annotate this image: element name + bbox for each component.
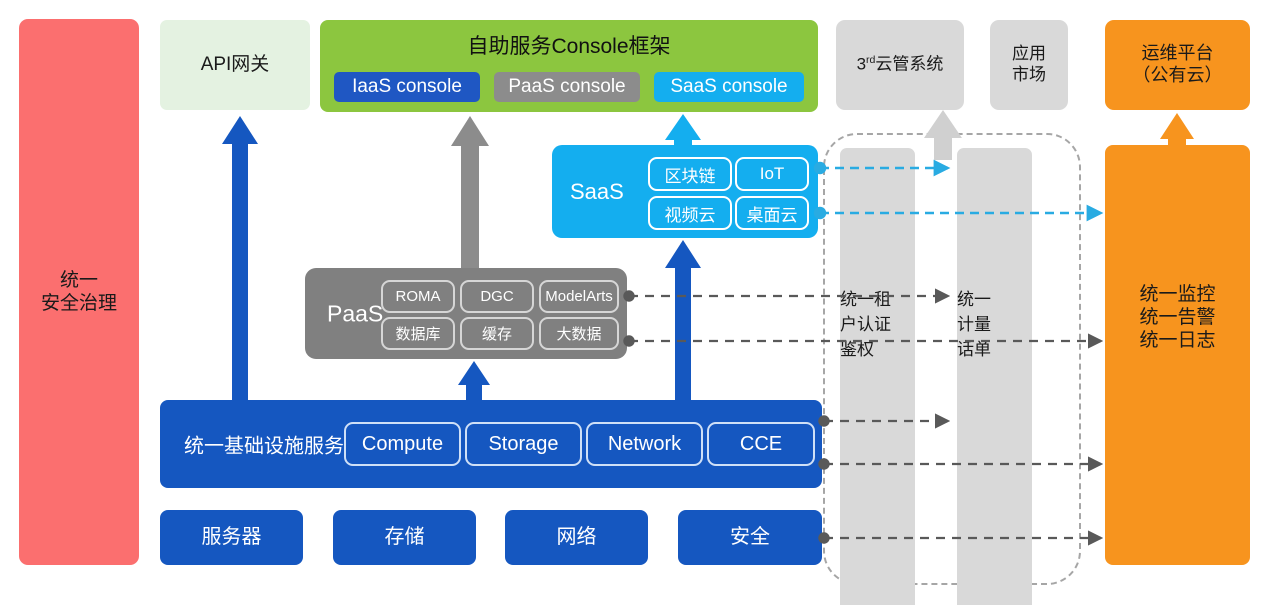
arrow-infra-to-paas — [458, 361, 490, 400]
infra-pill-network[interactable]: Network — [586, 422, 703, 466]
app-market-line2: 市场 — [1012, 65, 1046, 86]
base-resource-server[interactable]: 服务器 — [160, 510, 303, 565]
unified-security-line1: 统一 — [60, 269, 98, 292]
infra-pill-storage[interactable]: Storage — [465, 422, 582, 466]
console-framework-title: 自助服务Console框架 — [320, 30, 818, 60]
arrow-paas-to-console — [451, 116, 489, 268]
saas-console-chip[interactable]: SaaS console — [654, 72, 804, 102]
iaas-console-chip[interactable]: IaaS console — [334, 72, 480, 102]
shared-service-auth-column: 统一租 户认证 鉴权 — [840, 148, 915, 605]
base-resource-network[interactable]: 网络 — [505, 510, 648, 565]
paas-pill-roma[interactable]: ROMA — [381, 280, 455, 313]
ops-platform-line1: 运维平台 — [1142, 43, 1214, 65]
arrow-infra-to-api-gateway — [222, 116, 258, 400]
saas-layer-label: SaaS — [570, 179, 624, 205]
unified-infrastructure-box: 统一基础设施服务 Compute Storage Network CCE — [160, 400, 822, 488]
infra-pill-cce[interactable]: CCE — [707, 422, 815, 466]
saas-pill-desktop-cloud[interactable]: 桌面云 — [735, 196, 809, 230]
ops-platform-box: 运维平台 （公有云） — [1105, 20, 1250, 110]
paas-pill-database[interactable]: 数据库 — [381, 317, 455, 350]
paas-pill-modelarts[interactable]: ModelArts — [539, 280, 619, 313]
paas-layer-box: PaaS ROMA DGC ModelArts 数据库 缓存 大数据 — [305, 268, 627, 359]
paas-layer-label: PaaS — [327, 300, 383, 327]
ops-platform-line2: （公有云） — [1133, 65, 1223, 87]
infra-pill-compute[interactable]: Compute — [344, 422, 461, 466]
third-party-cloud-mgmt-label: 3rd云管系统 — [857, 54, 944, 75]
billing-line3: 话单 — [957, 335, 991, 360]
ops-line2: 统一告警 — [1139, 306, 1215, 329]
unified-security-line2: 安全治理 — [41, 292, 117, 315]
arrow-ops-column-to-ops-platform — [1160, 113, 1194, 145]
auth-line1: 统一租 — [840, 285, 891, 310]
auth-line2: 户认证 — [840, 310, 891, 335]
auth-line3: 鉴权 — [840, 335, 874, 360]
api-gateway-box: API网关 — [160, 20, 310, 110]
app-market-box: 应用 市场 — [990, 20, 1068, 110]
paas-pill-bigdata[interactable]: 大数据 — [539, 317, 619, 350]
unified-infrastructure-label: 统一基础设施服务 — [184, 430, 344, 459]
shared-service-billing-column: 统一 计量 话单 — [957, 148, 1032, 605]
paas-console-label: PaaS console — [508, 76, 625, 98]
saas-console-label: SaaS console — [670, 76, 787, 98]
saas-pill-iot[interactable]: IoT — [735, 157, 809, 191]
third-party-cloud-mgmt-box: 3rd云管系统 — [836, 20, 964, 110]
base-resource-security[interactable]: 安全 — [678, 510, 822, 565]
base-resource-storage[interactable]: 存储 — [333, 510, 476, 565]
billing-line2: 计量 — [957, 310, 991, 335]
app-market-line1: 应用 — [1012, 44, 1046, 65]
paas-pill-cache[interactable]: 缓存 — [460, 317, 534, 350]
ops-services-column: 统一监控 统一告警 统一日志 — [1105, 145, 1250, 565]
paas-console-chip[interactable]: PaaS console — [494, 72, 640, 102]
saas-pill-video-cloud[interactable]: 视频云 — [648, 196, 732, 230]
api-gateway-label: API网关 — [201, 53, 270, 76]
unified-security-governance-panel: 统一 安全治理 — [19, 19, 139, 565]
saas-layer-box: SaaS 区块链 IoT 视频云 桌面云 — [552, 145, 818, 238]
ops-line1: 统一监控 — [1139, 283, 1215, 306]
billing-line1: 统一 — [957, 285, 991, 310]
iaas-console-label: IaaS console — [352, 76, 462, 98]
saas-pill-blockchain[interactable]: 区块链 — [648, 157, 732, 191]
arrow-saas-to-saas-console — [665, 114, 701, 145]
architecture-diagram: 统一 安全治理 API网关 自助服务Console框架 IaaS console… — [0, 0, 1265, 605]
ops-line3: 统一日志 — [1139, 329, 1215, 352]
self-service-console-framework: 自助服务Console框架 IaaS console PaaS console … — [320, 20, 818, 112]
arrow-infra-to-saas — [665, 240, 701, 400]
paas-pill-dgc[interactable]: DGC — [460, 280, 534, 313]
